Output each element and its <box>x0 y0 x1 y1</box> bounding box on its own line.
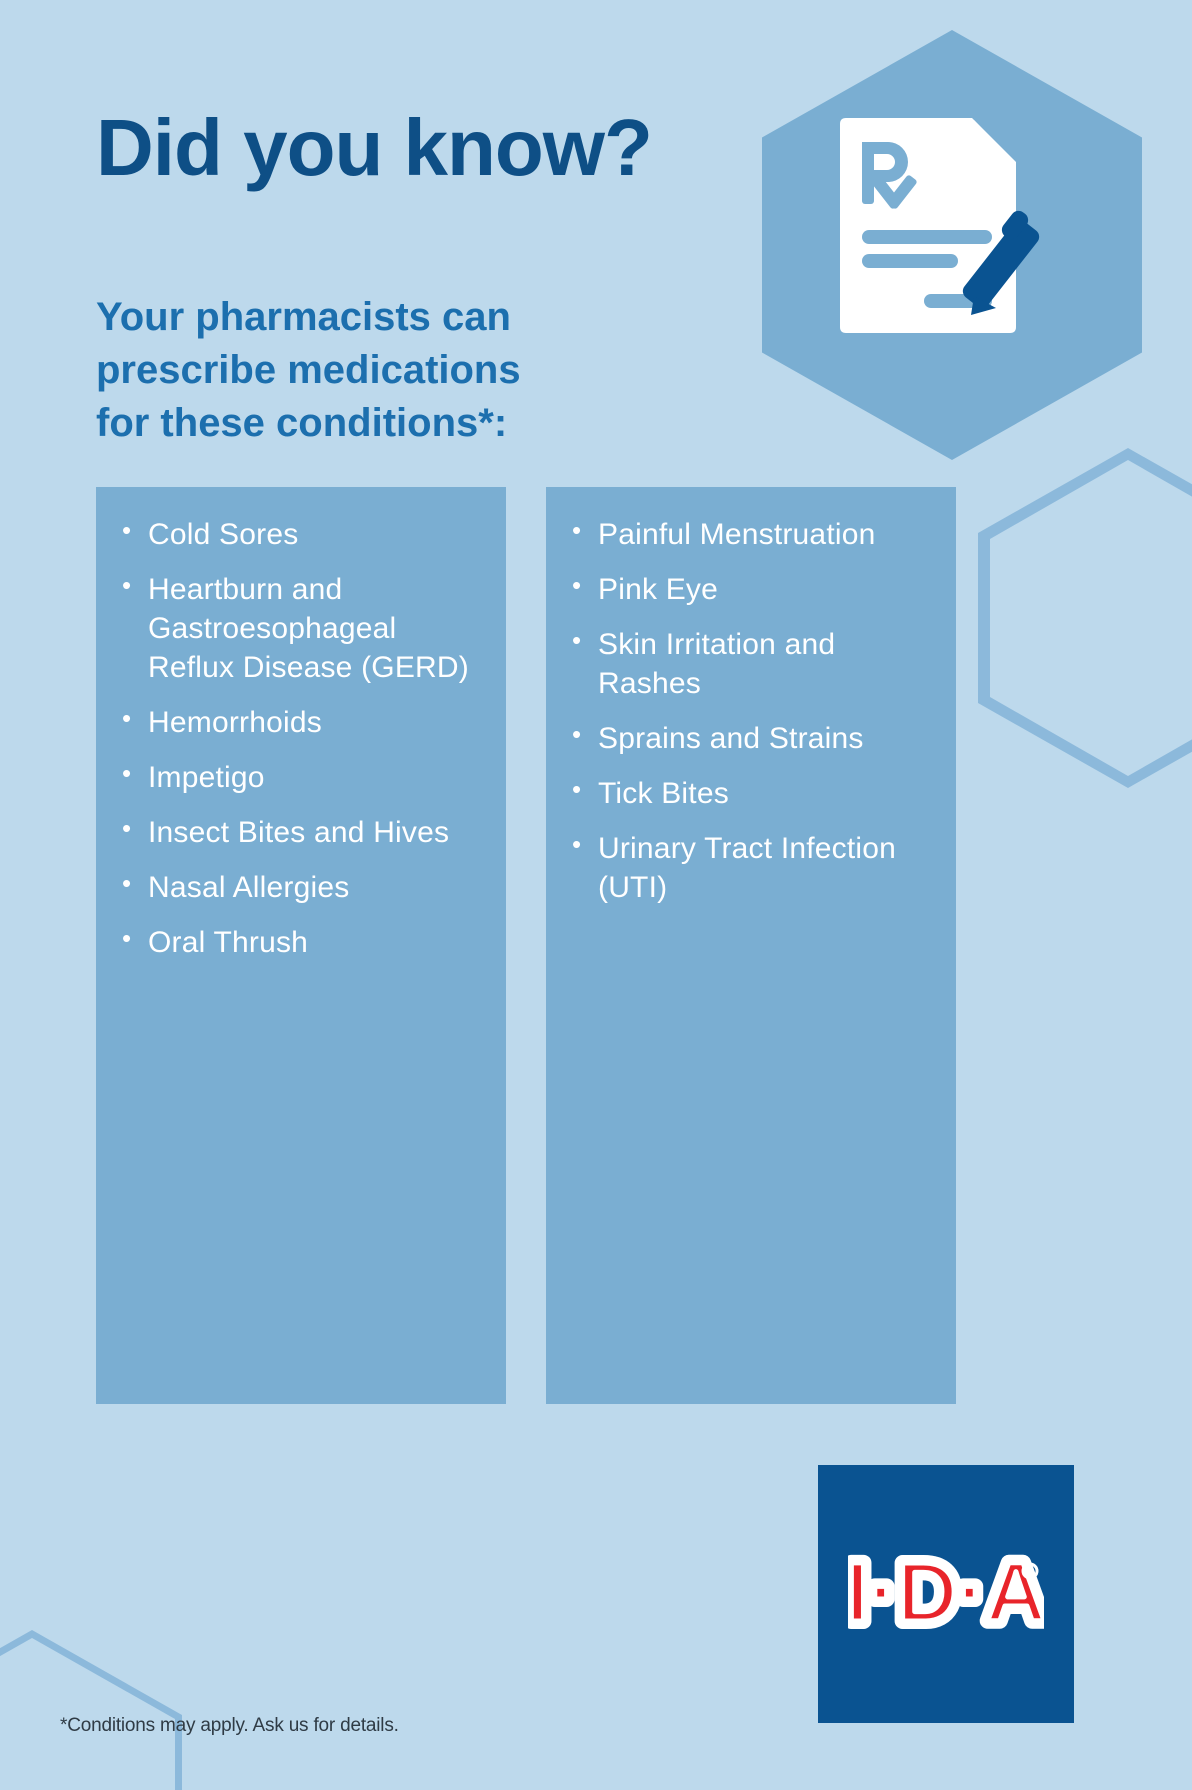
ida-logo-text: I·D·A <box>848 1545 1044 1639</box>
page-subtitle-line-3: for these conditions*: <box>96 397 736 450</box>
list-item: Insect Bites and Hives <box>118 813 484 852</box>
list-item: Tick Bites <box>568 774 934 813</box>
page-title: Did you know? <box>96 108 652 188</box>
hexagon-shape-right-outline-inner <box>990 460 1192 776</box>
list-item: Urinary Tract Infection (UTI) <box>568 829 934 907</box>
conditions-panel-left: Cold Sores Heartburn and Gastroesophagea… <box>96 487 506 1404</box>
hexagon-shape-bottom-left-outline-inner <box>0 1638 175 1790</box>
list-item: Painful Menstruation <box>568 515 934 554</box>
disclaimer-text: *Conditions may apply. Ask us for detail… <box>60 1715 399 1737</box>
list-item: Hemorrhoids <box>118 703 484 742</box>
conditions-list-left: Cold Sores Heartburn and Gastroesophagea… <box>118 515 484 962</box>
conditions-panel-right: Painful Menstruation Pink Eye Skin Irrit… <box>546 487 956 1404</box>
list-item: Oral Thrush <box>118 923 484 962</box>
list-item: Skin Irritation and Rashes <box>568 625 934 703</box>
page-subtitle-line-2: prescribe medications <box>96 344 736 397</box>
conditions-list-right: Painful Menstruation Pink Eye Skin Irrit… <box>568 515 934 907</box>
list-item: Sprains and Strains <box>568 719 934 758</box>
registered-trademark-letter: R <box>1026 1567 1034 1579</box>
list-item: Pink Eye <box>568 570 934 609</box>
list-item: Heartburn and Gastroesophageal Reflux Di… <box>118 570 484 687</box>
page-subtitle-line-1: Your pharmacists can <box>96 291 736 344</box>
ida-logo-icon: I·D·A I·D·A R <box>848 1535 1044 1645</box>
prescription-rx-document-icon <box>840 118 1040 333</box>
ida-logo-box: I·D·A I·D·A R <box>818 1465 1074 1723</box>
poster-canvas: Did you know? Your pharmacists can presc… <box>0 0 1192 1790</box>
list-item: Impetigo <box>118 758 484 797</box>
list-item: Nasal Allergies <box>118 868 484 907</box>
page-subtitle: Your pharmacists can prescribe medicatio… <box>96 291 736 449</box>
list-item: Cold Sores <box>118 515 484 554</box>
